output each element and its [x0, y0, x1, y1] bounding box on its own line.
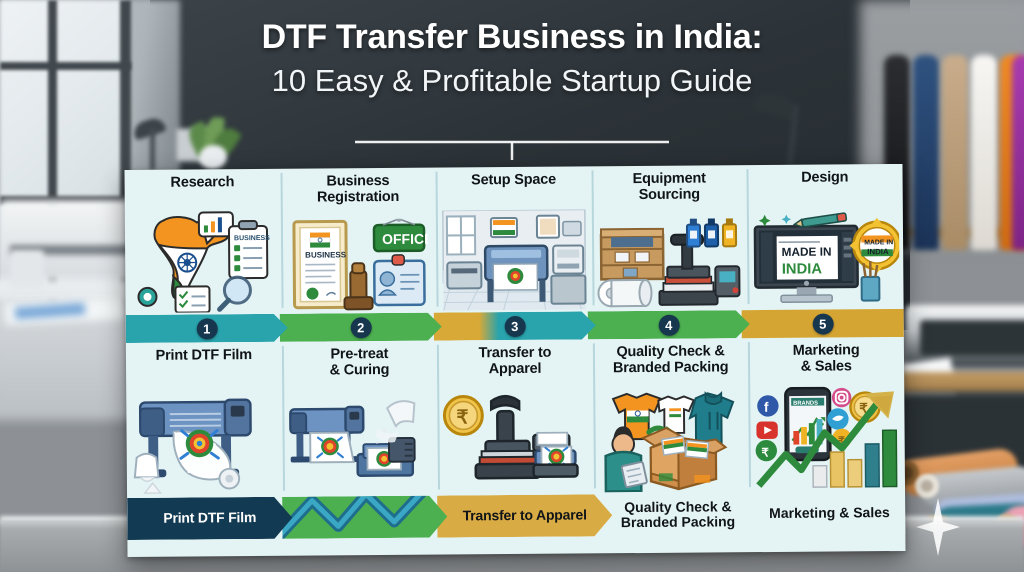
step-cell-pretreat-curing[interactable]: Pre-treat & Curing: [281, 341, 438, 497]
steps-row-bottom: Print DTF Film: [126, 337, 905, 498]
printer-body: [920, 320, 1024, 356]
roll-core-inner: [921, 480, 933, 492]
page-title: DTF Transfer Business in India:: [0, 18, 1024, 57]
research-artwork: BUSINESS: [129, 191, 278, 315]
footer-label-transfer-to-apparel: Transfer to Apparel: [457, 508, 593, 524]
footer-chevron-print-dtf-film[interactable]: Print DTF Film: [127, 497, 292, 540]
step-label-quality-check: Quality Check & Branded Packing: [613, 344, 729, 377]
pen-cup: [10, 250, 44, 288]
heat-press-rupee-icon: ₹: [441, 392, 589, 493]
step-number-1: 1: [196, 318, 217, 339]
label-line-1: Business: [326, 173, 389, 189]
social-phone-growth-chart-icon: BRANDS f ₹: [753, 382, 901, 491]
label-line-1: Equipment: [633, 170, 706, 187]
step-chevron-2[interactable]: 2: [280, 313, 442, 342]
business-registration-artwork: BUSINESS OFFICE: [284, 206, 432, 314]
step-cell-quality-check-branded-packing[interactable]: Quality Check & Branded Packing: [593, 338, 750, 494]
design-artwork: MADE IN INDIA: [751, 186, 900, 310]
svg-text:MADE IN: MADE IN: [865, 239, 894, 246]
svg-text:₹: ₹: [762, 446, 770, 459]
step-label-business-registration: Business Registration: [317, 174, 399, 207]
workshop-room-icon: [441, 209, 588, 310]
svg-text:OFFICE: OFFICE: [382, 231, 429, 247]
svg-text:BRANDS: BRANDS: [793, 401, 818, 407]
step-label-research: Research: [170, 175, 234, 191]
step-cell-setup-space[interactable]: Setup Space: [436, 166, 593, 312]
tshirt-box-inspector-icon: [597, 389, 745, 492]
step-chevron-4[interactable]: 4: [588, 310, 750, 339]
svg-text:BUSINESS: BUSINESS: [306, 250, 348, 259]
label-line-2: & Sales: [801, 358, 852, 374]
step-label-transfer-to-apparel: Transfer to Apparel: [478, 346, 551, 378]
monitor-made-in-india-icon: MADE IN INDIA: [751, 211, 899, 308]
step-number-4: 4: [658, 314, 679, 335]
step-label-pretreat-curing: Pre-treat & Curing: [329, 347, 389, 379]
india-map-research-icon: BUSINESS: [133, 208, 274, 313]
step-number-3: 3: [504, 315, 525, 336]
label-line-2: Sourcing: [639, 186, 700, 202]
footer-chevron-growth[interactable]: [282, 496, 447, 539]
step-cell-marketing-sales[interactable]: Marketing & Sales BRANDS: [748, 337, 905, 493]
step-label-setup-space: Setup Space: [471, 173, 556, 190]
footer-label-marketing-sales[interactable]: Marketing & Sales: [754, 492, 906, 535]
step-cell-transfer-to-apparel[interactable]: Transfer to Apparel ₹: [437, 339, 594, 495]
dtf-printer-film-icon: [130, 387, 278, 496]
step-chevron-1[interactable]: 1: [126, 314, 288, 343]
step-label-design: Design: [801, 170, 848, 186]
footer-label-quality-check[interactable]: Quality Check & Branded Packing: [602, 493, 754, 536]
step-cell-equipment-sourcing[interactable]: Equipment Sourcing: [591, 165, 748, 311]
svg-text:INDIA: INDIA: [868, 247, 890, 256]
crate-heatpress-inks-icon: [596, 218, 743, 309]
wood-table: [890, 372, 1024, 394]
powder-shaker-curing-icon: [286, 398, 434, 495]
step-cell-design[interactable]: Design MADE IN INDIA: [747, 164, 904, 310]
step-chevron-3[interactable]: 3: [434, 311, 596, 340]
label-line-1: Pre-treat: [330, 346, 388, 362]
label-line-2: Apparel: [489, 361, 542, 377]
step-number-2: 2: [350, 317, 371, 338]
equipment-sourcing-artwork: [596, 203, 744, 311]
marketing-sales-artwork: BRANDS f ₹: [753, 375, 902, 493]
growth-zigzag-icon: [282, 496, 447, 539]
setup-space-artwork: [440, 188, 589, 312]
svg-text:MADE IN: MADE IN: [782, 245, 832, 259]
pretreat-curing-artwork: [286, 379, 435, 497]
step-chevron-5[interactable]: 5: [742, 309, 904, 338]
footer-chevron-transfer-to-apparel[interactable]: Transfer to Apparel: [437, 494, 612, 537]
print-dtf-film-artwork: [130, 364, 279, 498]
label-line-2: Branded Packing: [613, 359, 729, 376]
transfer-to-apparel-artwork: ₹: [441, 377, 590, 495]
step-cell-business-registration[interactable]: Business Registration BUSINESS: [280, 168, 437, 314]
page-header: DTF Transfer Business in India: 10 Easy …: [0, 18, 1024, 99]
steps-row-top: Research: [124, 164, 903, 315]
step-label-equipment-sourcing: Equipment Sourcing: [633, 171, 706, 203]
label-line-1: Quality Check &: [616, 343, 724, 360]
quality-check-artwork: [597, 376, 746, 494]
screenshot-root: DTF Transfer Business in India: 10 Easy …: [0, 0, 1024, 572]
svg-text:f: f: [764, 400, 769, 415]
svg-text:BUSINESS: BUSINESS: [234, 235, 270, 242]
page-subtitle: 10 Easy & Profitable Startup Guide: [0, 63, 1024, 99]
sparkle-icon: [916, 498, 960, 556]
footer-label-line-2: Branded Packing: [621, 513, 735, 530]
certificate-stamp-id-icon: BUSINESS OFFICE: [288, 219, 429, 312]
rupee-symbol: ₹: [457, 407, 469, 428]
infographic-card: Research: [124, 164, 905, 557]
title-connector-line: [0, 136, 1024, 160]
label-line-1: Marketing: [793, 342, 860, 359]
step-cell-research[interactable]: Research: [124, 169, 281, 315]
label-line-1: Transfer to: [478, 345, 551, 362]
label-line-2: Registration: [317, 189, 399, 206]
step-label-print-dtf-film: Print DTF Film: [156, 348, 252, 365]
step-cell-print-dtf-film[interactable]: Print DTF Film: [126, 342, 283, 498]
footer-arrow-bar: Print DTF Film Transfer to Apparel Quali…: [127, 492, 905, 540]
step-number-5: 5: [812, 313, 833, 334]
step-label-marketing-sales: Marketing & Sales: [793, 343, 860, 375]
svg-text:INDIA: INDIA: [782, 261, 823, 277]
label-line-2: & Curing: [330, 362, 390, 378]
footer-label-print-dtf-film: Print DTF Film: [157, 510, 262, 526]
